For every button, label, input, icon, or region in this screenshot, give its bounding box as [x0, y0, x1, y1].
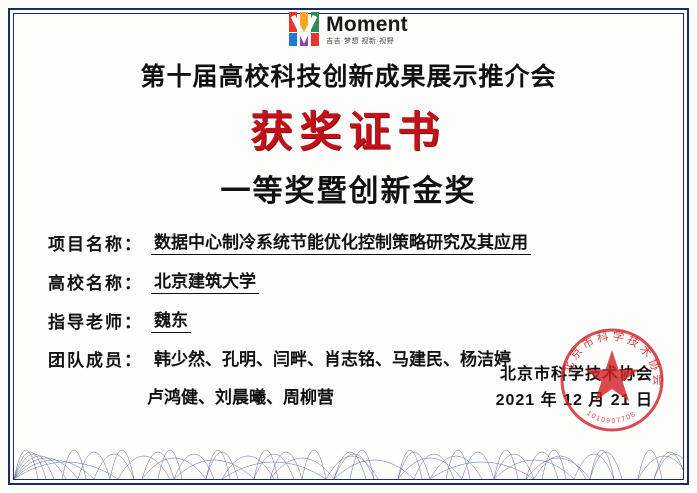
field-label-project: 项目名称：	[48, 230, 143, 255]
field-row-project: 项目名称： 数据中心制冷系统节能优化控制策略研究及其应用	[48, 228, 648, 255]
field-row-advisor: 指导老师： 魏东	[48, 306, 648, 333]
brand-logo: Moment 吉吉·梦想 视新·视野	[0, 12, 697, 46]
certificate-page: Moment 吉吉·梦想 视新·视野 第十届高校科技创新成果展示推介会 获奖证书…	[0, 0, 697, 493]
field-value-school: 北京建筑大学	[151, 267, 259, 294]
field-value-advisor: 魏东	[151, 306, 191, 333]
field-label-school: 高校名称：	[48, 269, 143, 294]
field-value-team: 韩少然、孔明、闫畔、肖志铭、马建民、杨洁婷	[151, 345, 514, 371]
signature-block: 北京市科学技术协会 2021 年 12 月 21 日	[496, 362, 653, 413]
guilloche-decoration	[14, 421, 683, 479]
field-label-team: 团队成员：	[48, 346, 143, 371]
event-title: 第十届高校科技创新成果展示推介会	[0, 57, 697, 93]
logo-wordmark: Moment	[326, 14, 408, 35]
issuer-name: 北京市科学技术协会	[496, 362, 653, 388]
certificate-title: 获奖证书	[0, 98, 697, 159]
issue-date: 2021 年 12 月 21 日	[496, 388, 653, 414]
award-level: 一等奖暨创新金奖	[0, 166, 697, 210]
field-row-school: 高校名称： 北京建筑大学	[48, 267, 648, 294]
moment-logo-icon	[289, 12, 319, 46]
field-value-team-continued: 卢鸿健、刘晨曦、周柳营	[144, 383, 337, 409]
logo-subtitle: 吉吉·梦想 视新·视野	[326, 38, 394, 45]
field-label-advisor: 指导老师：	[48, 308, 143, 333]
field-value-project: 数据中心制冷系统节能优化控制策略研究及其应用	[151, 228, 531, 255]
